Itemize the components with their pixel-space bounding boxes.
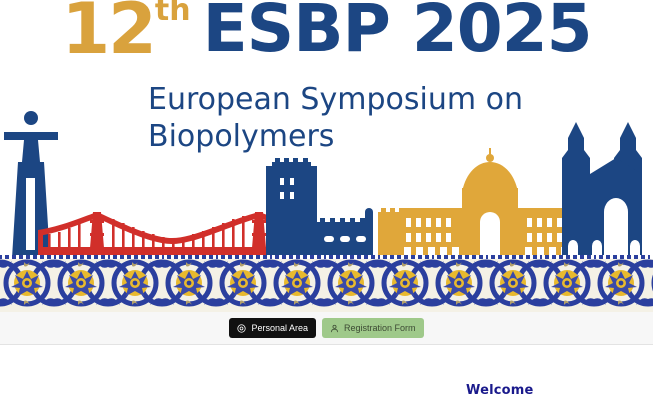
mosteiro-dos-jeronimos-icon	[562, 122, 642, 258]
action-bar: Personal Area Registration Form	[0, 312, 653, 345]
torre-de-belem-icon	[266, 158, 373, 258]
gear-circle-icon	[237, 324, 246, 333]
welcome-heading: Welcome	[466, 383, 534, 398]
title-ordinal-number: 12	[61, 0, 154, 64]
main-content: Welcome	[0, 345, 653, 409]
azulejo-pattern-icon	[0, 255, 653, 312]
person-icon	[330, 324, 339, 333]
banner-title: 12thESBP 2025	[0, 0, 653, 70]
title-ordinal-suffix: th	[155, 0, 191, 26]
azulejo-tile-band	[0, 255, 653, 312]
lisbon-skyline-illustration	[0, 100, 653, 258]
personal-area-button[interactable]: Personal Area	[229, 318, 316, 338]
ponte-25-de-abril-icon	[38, 212, 306, 258]
personal-area-label: Personal Area	[251, 324, 308, 333]
page-root: 12thESBP 2025 European Symposium on Biop…	[0, 0, 653, 409]
registration-form-button[interactable]: Registration Form	[322, 318, 424, 338]
conference-banner: 12thESBP 2025 European Symposium on Biop…	[0, 0, 653, 312]
title-main-text: ESBP 2025	[203, 0, 592, 62]
registration-form-label: Registration Form	[344, 324, 416, 333]
